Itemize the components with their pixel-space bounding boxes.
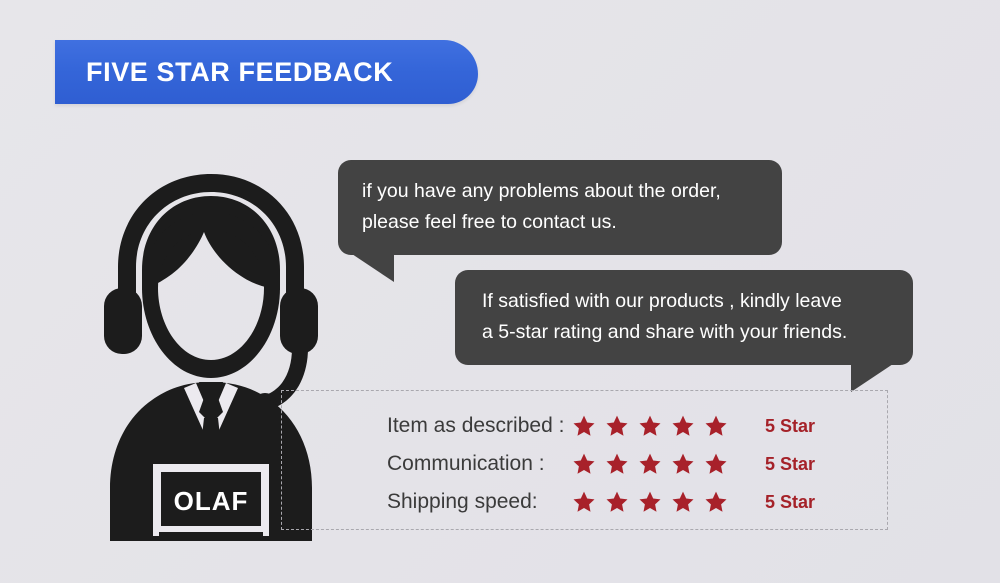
star-icon [605,490,629,514]
header-banner: FIVE STAR FEEDBACK [55,40,478,104]
star-icon [671,414,695,438]
speech-bubble-support: if you have any problems about the order… [338,160,782,255]
speech-bubble-tail-left [352,254,394,282]
star-icon [671,490,695,514]
star-icon [704,452,728,476]
star-icon [572,414,596,438]
speech-bubble-rating: If satisfied with our products , kindly … [455,270,913,365]
ratings-panel: Item as described : 5 Star Communication… [281,390,888,530]
speech-bubble-rating-text: If satisfied with our products , kindly … [482,286,891,348]
rating-row: Item as described : 5 Star [387,407,815,445]
rating-row: Shipping speed: 5 Star [387,483,815,521]
star-icon [572,490,596,514]
rating-label: Item as described : [387,414,572,438]
feedback-banner-image: FIVE STAR FEEDBACK [0,0,1000,583]
star-icon [638,452,662,476]
svg-text:OLAF: OLAF [174,486,249,516]
rating-label: Shipping speed: [387,490,572,514]
star-icon [605,414,629,438]
rating-value: 5 Star [765,492,815,513]
star-icon [638,414,662,438]
rating-stars [572,490,737,514]
rating-row: Communication : 5 Star [387,445,815,483]
rating-value: 5 Star [765,416,815,437]
star-icon [638,490,662,514]
star-icon [704,414,728,438]
rating-stars [572,452,737,476]
page-title: FIVE STAR FEEDBACK [55,57,393,88]
star-icon [605,452,629,476]
star-icon [704,490,728,514]
rating-value: 5 Star [765,454,815,475]
rating-stars [572,414,737,438]
speech-bubble-tail-right [851,364,893,392]
ratings-list: Item as described : 5 Star Communication… [387,407,815,521]
speech-bubble-support-text: if you have any problems about the order… [362,176,760,238]
star-icon [572,452,596,476]
star-icon [671,452,695,476]
rating-label: Communication : [387,452,572,476]
